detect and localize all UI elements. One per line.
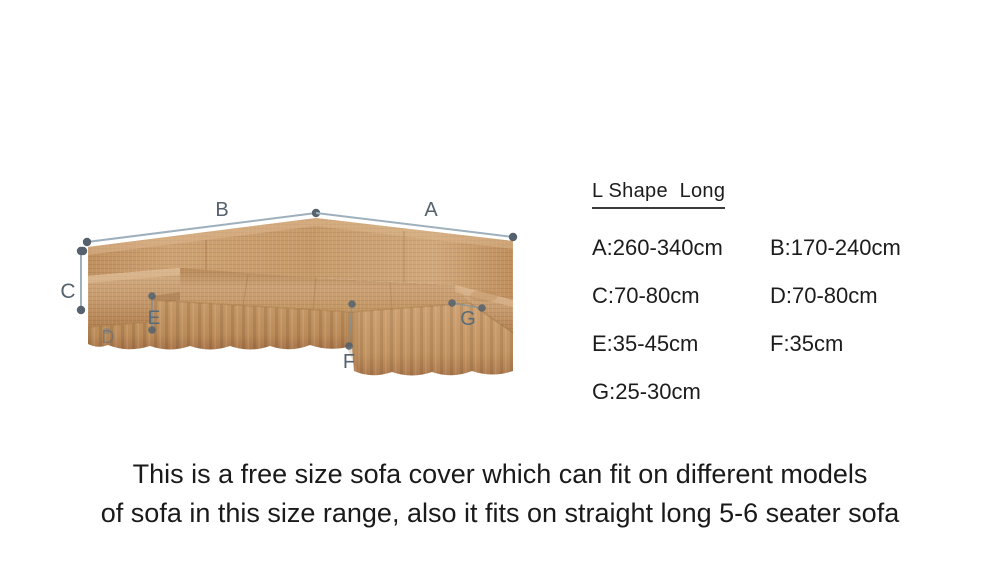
spec-value-a: A:260-340cm [592, 235, 770, 261]
spec-value-e: E:35-45cm [592, 331, 770, 357]
dimension-marker-dot [345, 342, 353, 350]
caption-block: This is a free size sofa cover which can… [0, 455, 1000, 533]
spec-row: C:70-80cm D:70-80cm [592, 283, 992, 309]
product-size-chart-image: B A C E [0, 0, 1000, 570]
dimension-marker-dot [77, 306, 85, 314]
dimension-label-c: C [60, 280, 75, 303]
dimension-label-d: D [102, 327, 115, 347]
spec-value-g: G:25-30cm [592, 379, 770, 405]
dimension-marker-dot [478, 304, 486, 312]
spec-row: A:260-340cm B:170-240cm [592, 235, 992, 261]
caption-line-1: This is a free size sofa cover which can… [0, 455, 1000, 494]
dimension-label-b: B [215, 199, 228, 221]
caption-line-2: of sofa in this size range, also it fits… [0, 494, 1000, 533]
spec-row: E:35-45cm F:35cm [592, 331, 992, 357]
spec-rows: A:260-340cm B:170-240cm C:70-80cm D:70-8… [592, 235, 992, 405]
dimension-label-f: F [343, 351, 355, 373]
sofa-diagram: B A C E [0, 0, 580, 440]
dimension-label-a: A [424, 199, 438, 221]
dimension-d: D [102, 327, 115, 347]
dimension-c: C [60, 247, 85, 314]
dimension-label-e: E [148, 308, 161, 329]
spec-value-b: B:170-240cm [770, 235, 901, 261]
spec-value-f: F:35cm [770, 331, 843, 357]
spec-value-c: C:70-80cm [592, 283, 770, 309]
dimension-label-g: G [460, 308, 476, 330]
spec-row: G:25-30cm [592, 379, 992, 405]
dimension-marker-dot [83, 238, 91, 246]
spec-value-d: D:70-80cm [770, 283, 878, 309]
dimension-marker-dot [77, 247, 85, 255]
dimension-marker-dot [448, 299, 456, 307]
spec-title: L Shape Long [592, 180, 725, 209]
specification-panel: L Shape Long A:260-340cm B:170-240cm C:7… [592, 180, 992, 427]
dimension-marker-dot [509, 233, 517, 241]
dimension-marker-dot [148, 292, 156, 300]
dimension-marker-dot [348, 300, 356, 308]
